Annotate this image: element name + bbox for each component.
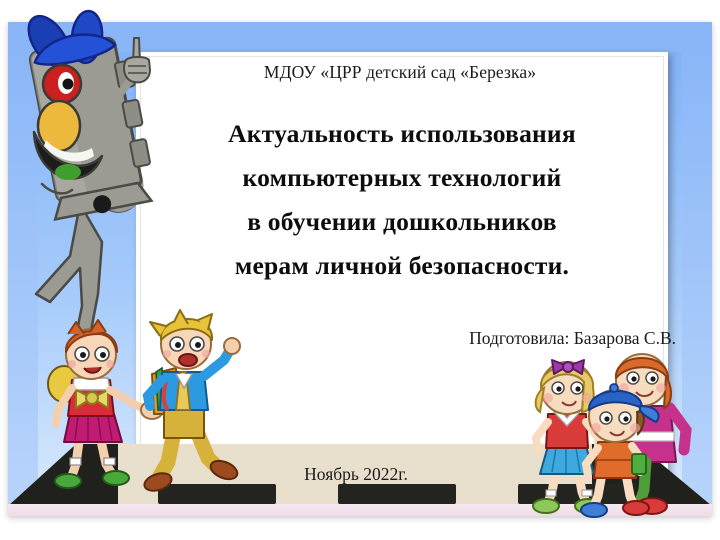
- presentation-date: Ноябрь 2022г.: [226, 464, 486, 485]
- title-line-1: Актуальность использования: [140, 112, 664, 156]
- author-credit: Подготовила: Базарова С.В.: [469, 328, 676, 349]
- title-line-3: в обучении дошкольников: [140, 200, 664, 244]
- page-title: Актуальность использования компьютерных …: [140, 112, 664, 288]
- presentation-slide: МДОУ «ЦРР детский сад «Березка» Актуальн…: [0, 0, 720, 540]
- children-group-icon: [524, 350, 720, 520]
- crosswalk-stripe: [338, 484, 456, 504]
- title-line-4: мерам личной безопасности.: [140, 244, 664, 288]
- organization-name: МДОУ «ЦРР детский сад «Березка»: [150, 62, 650, 83]
- title-line-2: компьютерных технологий: [140, 156, 664, 200]
